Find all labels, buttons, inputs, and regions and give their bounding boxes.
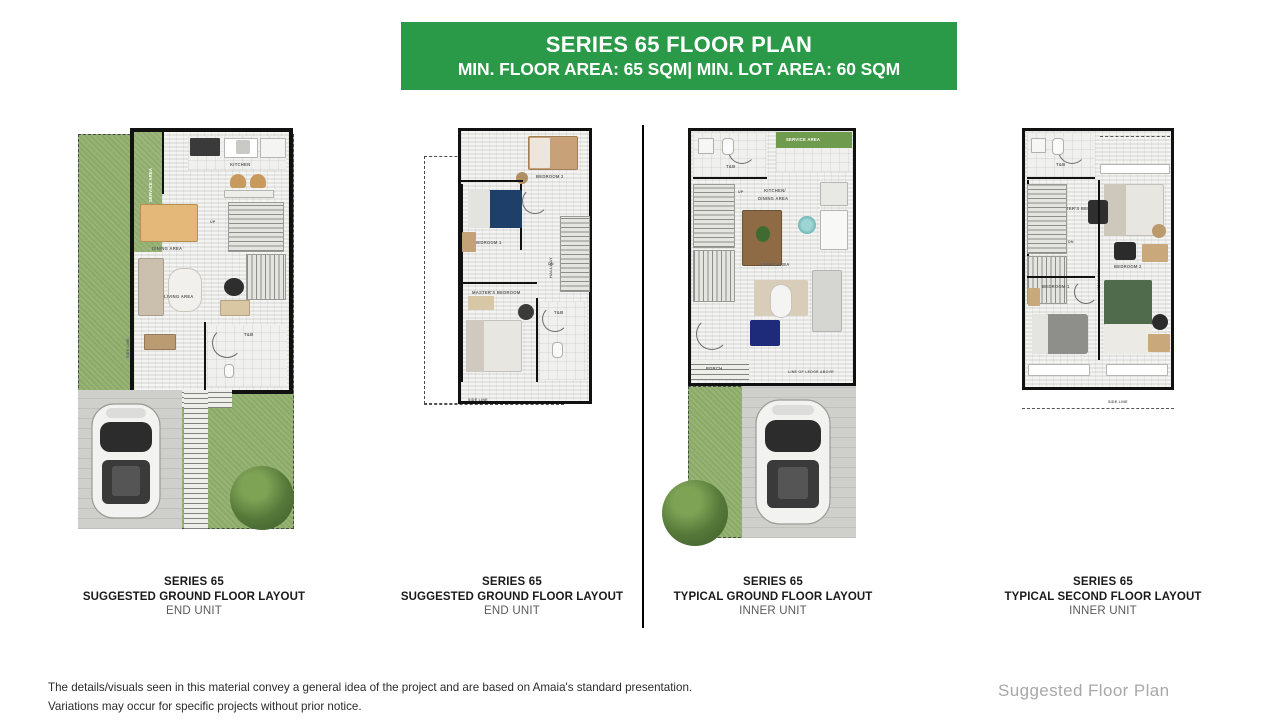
tv-console [1114,242,1136,260]
accent-chair-master [518,304,534,320]
refrigerator [820,210,848,250]
label-dining-area: DINING AREA [758,196,788,201]
sofa [138,258,164,316]
master-dresser [468,296,494,310]
nightstand [1152,224,1166,238]
window-band-bottom-left [1028,364,1090,376]
label-tb: T&B [554,310,563,315]
floor-plan-1: SERVICE AREA KITCHEN DINING AREA UP LIVI… [78,128,310,532]
banner-subtitle: MIN. FLOOR AREA: 65 SQM| MIN. LOT AREA: … [458,59,900,80]
label-bedroom-1: BEDROOM 1 [1042,284,1070,289]
caption-unit: END UNIT [62,604,326,619]
label-service-area: SERVICE AREA [148,168,153,202]
toilet-fixture [224,364,234,378]
window-band [1100,164,1170,174]
staircase-lower-flight [246,254,286,300]
bedroom1-door-arc [522,188,548,214]
caption-layout: SUGGESTED GROUND FLOOR LAYOUT [62,590,326,605]
label-dining-area: DINING AREA [152,246,182,251]
upper-cabinet [260,138,286,158]
label-masters-bedroom: MASTER'S BEDROOM [472,290,521,295]
tb-wall [536,298,538,382]
floor-plan-2: BEDROOM 2 BEDROOM 1 HALLWAY DN MASTER'S … [424,128,596,412]
service-area-floor [776,148,852,172]
toilet-fixture [1052,138,1064,155]
floor-plan-1-drawing: SERVICE AREA KITCHEN DINING AREA UP LIVI… [78,128,310,532]
label-side-line: SIDE LINE [126,338,130,358]
master-wall-left [461,282,463,382]
label-dn: DN [1068,240,1074,244]
floor-plan-2-drawing: BEDROOM 2 BEDROOM 1 HALLWAY DN MASTER'S … [424,128,596,412]
staircase [560,216,590,292]
floor-plan-2-caption: SERIES 65 SUGGESTED GROUND FLOOR LAYOUT … [382,575,642,619]
toilet-fixture [722,138,734,155]
label-tb: T&B [726,164,735,169]
floor-plan-slide: SERIES 65 FLOOR PLAN MIN. FLOOR AREA: 65… [0,0,1280,720]
label-hallway: HALLWAY [548,257,553,278]
floor-plan-4-caption: SERIES 65 TYPICAL SECOND FLOOR LAYOUT IN… [978,575,1228,619]
stool-2 [250,174,266,188]
caption-series: SERIES 65 [382,575,642,590]
tree-icon [230,466,294,530]
floor-plan-3: SERVICE AREA T&B KITCHEN/ DINING AREA UP… [688,128,860,544]
entry-cabinet [144,334,176,350]
master-bed-linen [466,320,484,372]
staircase [228,202,284,252]
header-banner: SERIES 65 FLOOR PLAN MIN. FLOOR AREA: 65… [401,22,957,90]
label-living-area: LIVING AREA [760,262,790,267]
sink-icon [236,140,250,154]
label-tb: T&B [1056,162,1065,167]
master-wall-right [1098,180,1100,242]
side-line-dash [424,404,564,405]
bed-2-linen [530,138,550,168]
floor-plan-4: T&B MASTER'S BEDROOM DN HALLWAY BEDROO [1022,128,1178,416]
disclaimer: The details/visuals seen in this materia… [48,679,828,717]
label-living-area: LIVING AREA [164,294,194,299]
ledge-dash [1100,136,1170,137]
window-band-bottom-right [1106,364,1168,376]
bed-2-linen [1104,324,1152,354]
car-icon [752,396,834,528]
label-up: UP [210,220,216,224]
label-line-of-ledge-above: LINE OF LEDGE ABOVE [788,370,834,374]
bedroom2-wall-left [1098,242,1100,360]
stove-icon [190,138,220,156]
nightstand-1 [1028,288,1040,306]
floor-plan-3-caption: SERIES 65 TYPICAL GROUND FLOOR LAYOUT IN… [648,575,898,619]
label-dn: DN [548,262,554,266]
car-icon [88,400,164,522]
disclaimer-line-2: Variations may occur for specific projec… [48,698,828,717]
walkway [184,390,208,529]
side-line-dash [1022,408,1174,409]
bedroom1-door-arc [1074,280,1098,304]
label-service-area: SERVICE AREA [786,137,820,142]
toilet-fixture [552,342,563,358]
center-table [770,284,792,318]
partition-top [461,180,523,182]
shower-area [698,138,714,154]
stove-counter [820,182,848,206]
caption-layout: TYPICAL SECOND FLOOR LAYOUT [978,590,1228,605]
floor-plan-4-drawing: T&B MASTER'S BEDROOM DN HALLWAY BEDROO [1022,128,1178,416]
disclaimer-line-1: The details/visuals seen in this materia… [48,679,828,698]
accent-chair [224,278,244,296]
label-bedroom-2: BEDROOM 2 [536,174,564,179]
stool-1 [230,174,246,188]
caption-series: SERIES 65 [978,575,1228,590]
tb-door-arc [212,328,242,358]
bedroom1-wall-top [1027,276,1095,278]
caption-series: SERIES 65 [62,575,326,590]
label-kitchen: KITCHEN/ [764,188,786,193]
caption-unit: INNER UNIT [978,604,1228,619]
service-wall [162,132,164,194]
label-kitchen: KITCHEN [230,162,250,167]
dresser-2 [1148,334,1170,352]
label-bedroom-2: BEDROOM 2 [1114,264,1142,269]
watermark-label: Suggested Floor Plan [998,681,1170,701]
sofa [812,270,842,332]
dresser-1 [462,232,476,252]
tree-icon [662,480,728,546]
entry-door-arc [696,318,728,350]
master-wall-top [461,282,537,284]
staircase [1027,184,1067,254]
label-side-line: SIDE LINE [468,398,488,402]
bed-1-linen [1032,314,1048,354]
caption-layout: SUGGESTED GROUND FLOOR LAYOUT [382,590,642,605]
caption-series: SERIES 65 [648,575,898,590]
tb-wall-bottom [693,177,767,179]
console-table [220,300,250,316]
floor-plan-1-caption: SERIES 65 SUGGESTED GROUND FLOOR LAYOUT … [62,575,326,619]
armchair [750,320,780,346]
dining-table [140,204,198,242]
label-up: UP [738,190,744,194]
caption-layout: TYPICAL GROUND FLOOR LAYOUT [648,590,898,605]
label-side-line: SIDE LINE [1108,400,1128,404]
staircase [693,184,735,248]
ceiling-fan-icon [798,216,816,234]
label-porch: PORCH [706,366,722,371]
side-stool [1152,314,1168,330]
caption-unit: INNER UNIT [648,604,898,619]
breakfast-counter [224,190,274,198]
tb-wall [204,322,206,390]
label-bedroom-1: BEDROOM 1 [474,240,502,245]
dresser [1142,244,1168,262]
shower-area [1031,138,1046,153]
tb-wall-bottom [1027,177,1095,179]
area-rug [168,268,202,312]
banner-title: SERIES 65 FLOOR PLAN [546,32,812,57]
bed-1-pillows [468,190,490,228]
staircase-lower-flight [693,250,735,302]
section-divider [642,125,644,628]
label-tb: T&B [244,332,253,337]
nightstand-2 [516,172,528,184]
table-plant [756,226,770,242]
floor-plan-3-drawing: SERVICE AREA T&B KITCHEN/ DINING AREA UP… [688,128,860,544]
caption-unit: END UNIT [382,604,642,619]
